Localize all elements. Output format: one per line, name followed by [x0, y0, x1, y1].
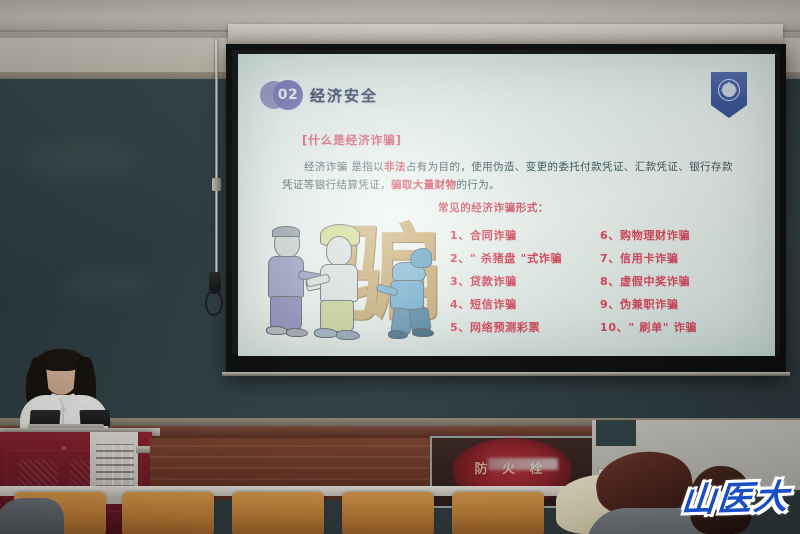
list-item: 4、短信诈骗	[450, 293, 562, 316]
fraud-list-left: 1、合同诈骗 2、" 杀猪盘 "式诈骗 3、贷款诈骗 4、短信诈骗 5、网络预测…	[450, 224, 562, 339]
cartoon-wolf-scammer	[386, 258, 442, 342]
list-item: 9、伪兼职诈骗	[600, 293, 697, 316]
watermark: 山医大	[680, 469, 793, 522]
list-item: 1、合同诈骗	[450, 224, 562, 247]
seat	[342, 492, 434, 534]
list-item: 10、" 刷单" 诈骗	[600, 316, 697, 339]
cord-joint	[212, 178, 221, 191]
body-part-1: 经济诈骗 是指以	[304, 161, 384, 173]
forms-label: 常见的经济诈骗形式：	[438, 200, 549, 215]
section-badge: 02	[260, 80, 304, 110]
university-emblem-icon	[711, 72, 747, 118]
slide-section-title: 经济安全	[310, 85, 378, 106]
body-highlight-1: 非法	[384, 161, 406, 173]
sign-glare-streak	[488, 458, 558, 470]
list-item: 5、网络预测彩票	[450, 316, 562, 339]
screen-bottom-bar	[226, 360, 786, 372]
fraud-list-right: 6、购物理财诈骗 7、信用卡诈骗 8、虚假中奖诈骗 9、伪兼职诈骗 10、" 刷…	[600, 224, 697, 339]
seat	[122, 492, 214, 534]
body-part-3: 的行为。	[456, 179, 500, 191]
list-item: 8、虚假中奖诈骗	[600, 270, 697, 293]
podium-grille-left	[18, 460, 58, 486]
seat	[232, 492, 324, 534]
seat	[452, 492, 544, 534]
cord-loop[interactable]	[205, 290, 223, 316]
section-number: 02	[273, 80, 303, 110]
slide-bracket-heading: [什么是经济诈骗]	[302, 132, 402, 148]
av-cabinet-vents	[96, 444, 134, 492]
right-chalkboard-edge	[596, 420, 636, 446]
screen-bottom-edge	[222, 372, 790, 376]
list-item: 6、购物理财诈骗	[600, 224, 697, 247]
seat-row	[0, 492, 640, 534]
cartoon-figure-middle	[314, 230, 374, 342]
list-item: 2、" 杀猪盘 "式诈骗	[450, 247, 562, 270]
screen-pull-cord[interactable]	[215, 40, 218, 280]
list-item: 3、贷款诈骗	[450, 270, 562, 293]
scam-illustration: 骗	[258, 214, 438, 346]
slide-body-text: 经济诈骗 是指以非法占有为目的，使用伪造、变更的委托付款凭证、汇款凭证、银行存款…	[282, 158, 742, 194]
body-highlight-2: 骗取大量财物	[391, 179, 456, 191]
foreground-student-far-left	[0, 498, 64, 534]
list-item: 7、信用卡诈骗	[600, 247, 697, 270]
projected-slide: 02 经济安全 [什么是经济诈骗] 经济诈骗 是指以非法占有为目的，使用伪造、变…	[238, 54, 775, 356]
classroom-photo: 02 经济安全 [什么是经济诈骗] 经济诈骗 是指以非法占有为目的，使用伪造、变…	[0, 0, 800, 534]
emblem-dots	[718, 79, 740, 101]
